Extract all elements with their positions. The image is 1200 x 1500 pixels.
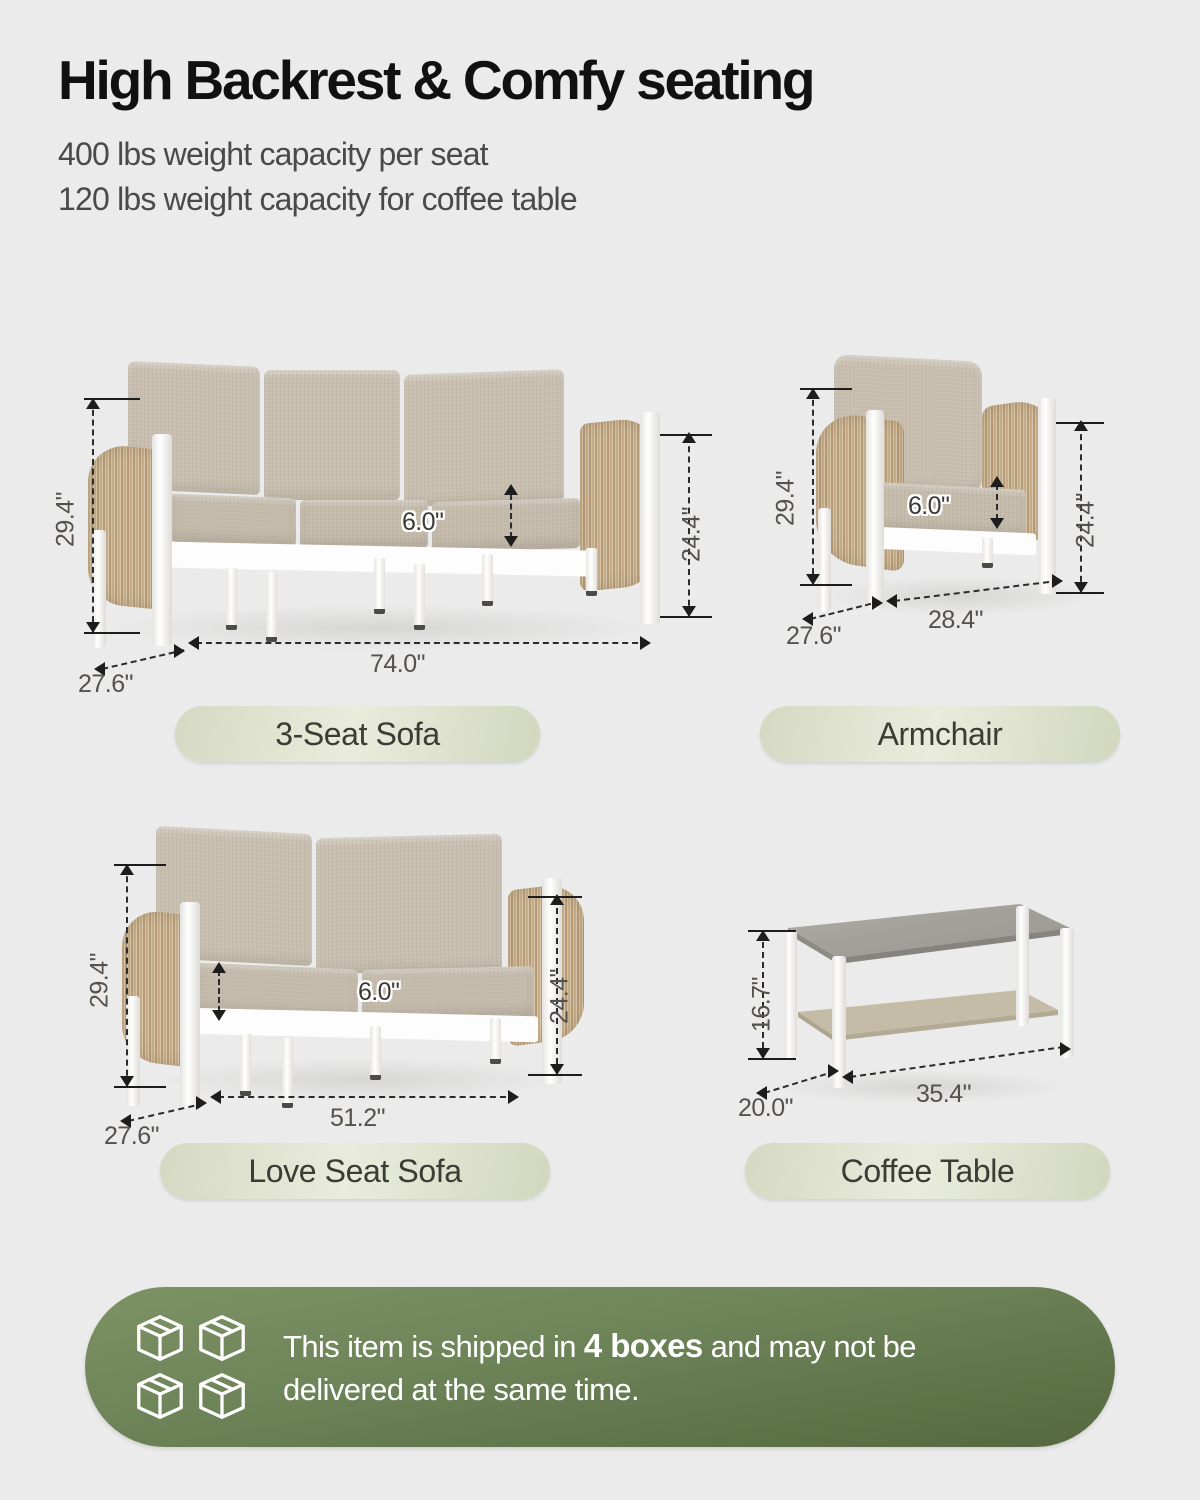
depth-dim-label: 27.6" [78, 670, 133, 699]
leg [374, 558, 385, 614]
arrow-left-icon [210, 1090, 221, 1104]
leg [586, 548, 597, 596]
height-dim-label: 29.4" [52, 472, 81, 568]
shipping-message: This item is shipped in 4 boxes and may … [283, 1323, 916, 1412]
cushion-dim-line [218, 970, 220, 1012]
package-box-icon [131, 1369, 189, 1423]
leg [982, 538, 993, 568]
frame-post-rear-left [126, 996, 140, 1106]
shipping-text-pre: This item is shipped in [283, 1329, 584, 1364]
shipping-text-post: and may not be [703, 1329, 916, 1364]
cushion-thickness-label: 6.0" [908, 492, 949, 521]
leg [482, 554, 493, 606]
width-dim-line [218, 1096, 516, 1098]
package-box-icon [193, 1369, 251, 1423]
arrow-right-icon [828, 1064, 839, 1078]
height-dim-line [92, 400, 94, 632]
frame-post-left [866, 410, 884, 610]
header-block: High Backrest & Comfy seating 400 lbs we… [58, 52, 1158, 223]
frame-post-rear-left [818, 508, 831, 612]
product-figure-table: 16.7" 20.0" 35.4" [720, 890, 1120, 1120]
frame-post-left [152, 434, 172, 646]
width-dim-label: 28.4" [928, 606, 983, 635]
product-figure-armchair: 6.0" 29.4" 24.4" 27.6" 28.4" [770, 350, 1170, 640]
box-count-text: 4 boxes [584, 1327, 703, 1364]
arrow-right-icon [872, 596, 883, 610]
arrow-left-icon [842, 1070, 853, 1084]
product-label-loveseat[interactable]: Love Seat Sofa [160, 1143, 550, 1199]
arrow-right-icon [196, 1096, 207, 1110]
product-label-text: Coffee Table [841, 1153, 1015, 1190]
capacity-seat-text: 400 lbs weight capacity per seat [58, 132, 1158, 177]
width-dim-label: 74.0" [370, 650, 425, 679]
depth-dim-label: 27.6" [786, 622, 841, 651]
height-dim-label: 29.4" [772, 451, 801, 547]
arrow-up-icon [756, 930, 770, 941]
arrow-up-icon [990, 476, 1004, 487]
product-label-text: 3-Seat Sofa [275, 716, 440, 753]
back-cushion [316, 834, 502, 975]
cushion-thickness-label: 6.0" [402, 508, 443, 537]
seatback-dim-label: 24.4" [678, 487, 707, 583]
arrow-right-icon [174, 644, 185, 658]
arrow-right-icon [1052, 574, 1063, 588]
product-figure-loveseat: 6.0" 29.4" 24.4" 27.6" 51.2" [90, 820, 650, 1130]
arrow-up-icon [120, 864, 134, 875]
arrow-left-icon [886, 594, 897, 608]
arrow-up-icon [504, 484, 518, 495]
arrow-right-icon [508, 1090, 519, 1104]
arrow-right-icon [1060, 1042, 1071, 1056]
product-label-text: Armchair [878, 716, 1003, 753]
package-box-icon [131, 1311, 189, 1365]
loveseat-illustration: 6.0" 29.4" 24.4" 27.6" 51.2" [90, 820, 650, 1130]
height-dim-line [126, 866, 128, 1086]
page-title: High Backrest & Comfy seating [58, 52, 1158, 110]
arrow-up-icon [806, 388, 820, 399]
height-dim-label: 29.4" [86, 933, 115, 1029]
depth-dim-line [102, 649, 184, 670]
back-cushion [264, 370, 400, 500]
leg [414, 564, 425, 630]
box-icon-grid [131, 1311, 251, 1423]
table-leg [1016, 906, 1029, 1026]
leg [490, 1018, 501, 1064]
frame-post-right [640, 412, 660, 624]
arrow-up-icon [86, 398, 100, 409]
arrow-down-icon [682, 606, 696, 617]
frame-post-right [1038, 398, 1056, 594]
capacity-table-text: 120 lbs weight capacity for coffee table [58, 177, 1158, 222]
arrow-down-icon [1074, 582, 1088, 593]
depth-dim-label: 20.0" [738, 1094, 793, 1123]
armchair-illustration: 6.0" 29.4" 24.4" 27.6" 28.4" [770, 350, 1170, 640]
arrow-left-icon [188, 636, 199, 650]
sofa-illustration: 6.0" 29.4" 24.4" 27.6" 74.0" [40, 350, 700, 680]
table-leg [784, 930, 797, 1058]
shipping-message-line2: delivered at the same time. [283, 1369, 916, 1412]
seatback-dim-label: 24.4" [1072, 473, 1101, 569]
shipping-message-line1: This item is shipped in 4 boxes and may … [283, 1323, 916, 1369]
arrow-down-icon [504, 536, 518, 547]
cushion-thickness-label: 6.0" [358, 978, 399, 1007]
arrow-up-icon [682, 432, 696, 443]
width-dim-label: 51.2" [330, 1104, 385, 1133]
leg [266, 572, 277, 642]
seatback-dim-label: 24.4" [546, 949, 575, 1045]
seat-cushion [170, 494, 296, 547]
height-dim-label: 16.7" [748, 957, 777, 1053]
arrow-down-icon [806, 574, 820, 585]
leg [370, 1026, 381, 1080]
cushion-dim-line [510, 494, 512, 538]
arrow-up-icon [212, 962, 226, 973]
arrow-right-icon [640, 636, 651, 650]
package-box-icon [193, 1311, 251, 1365]
coffee-table-illustration: 16.7" 20.0" 35.4" [720, 890, 1120, 1120]
frame-post-left [180, 902, 200, 1108]
product-label-table[interactable]: Coffee Table [745, 1143, 1110, 1199]
arrow-down-icon [212, 1010, 226, 1021]
arrow-down-icon [990, 518, 1004, 529]
arrow-up-icon [550, 894, 564, 905]
arrow-down-icon [550, 1064, 564, 1075]
height-dim-line [812, 390, 814, 584]
product-label-text: Love Seat Sofa [248, 1153, 461, 1190]
depth-dim-label: 27.6" [104, 1122, 159, 1151]
product-figure-sofa: 6.0" 29.4" 24.4" 27.6" 74.0" [40, 350, 700, 680]
arrow-down-icon [86, 622, 100, 633]
width-dim-line [196, 642, 648, 644]
leg [240, 1034, 251, 1096]
shipping-banner: This item is shipped in 4 boxes and may … [85, 1287, 1115, 1447]
cushion-dim-line [996, 484, 998, 520]
table-leg [1060, 928, 1074, 1058]
width-dim-label: 35.4" [916, 1080, 971, 1109]
arrow-up-icon [1074, 420, 1088, 431]
product-label-sofa[interactable]: 3-Seat Sofa [175, 706, 540, 762]
leg [226, 568, 237, 630]
product-label-armchair[interactable]: Armchair [760, 706, 1120, 762]
back-cushion [404, 369, 564, 507]
depth-dim-line [128, 1102, 204, 1121]
arrow-down-icon [120, 1076, 134, 1087]
